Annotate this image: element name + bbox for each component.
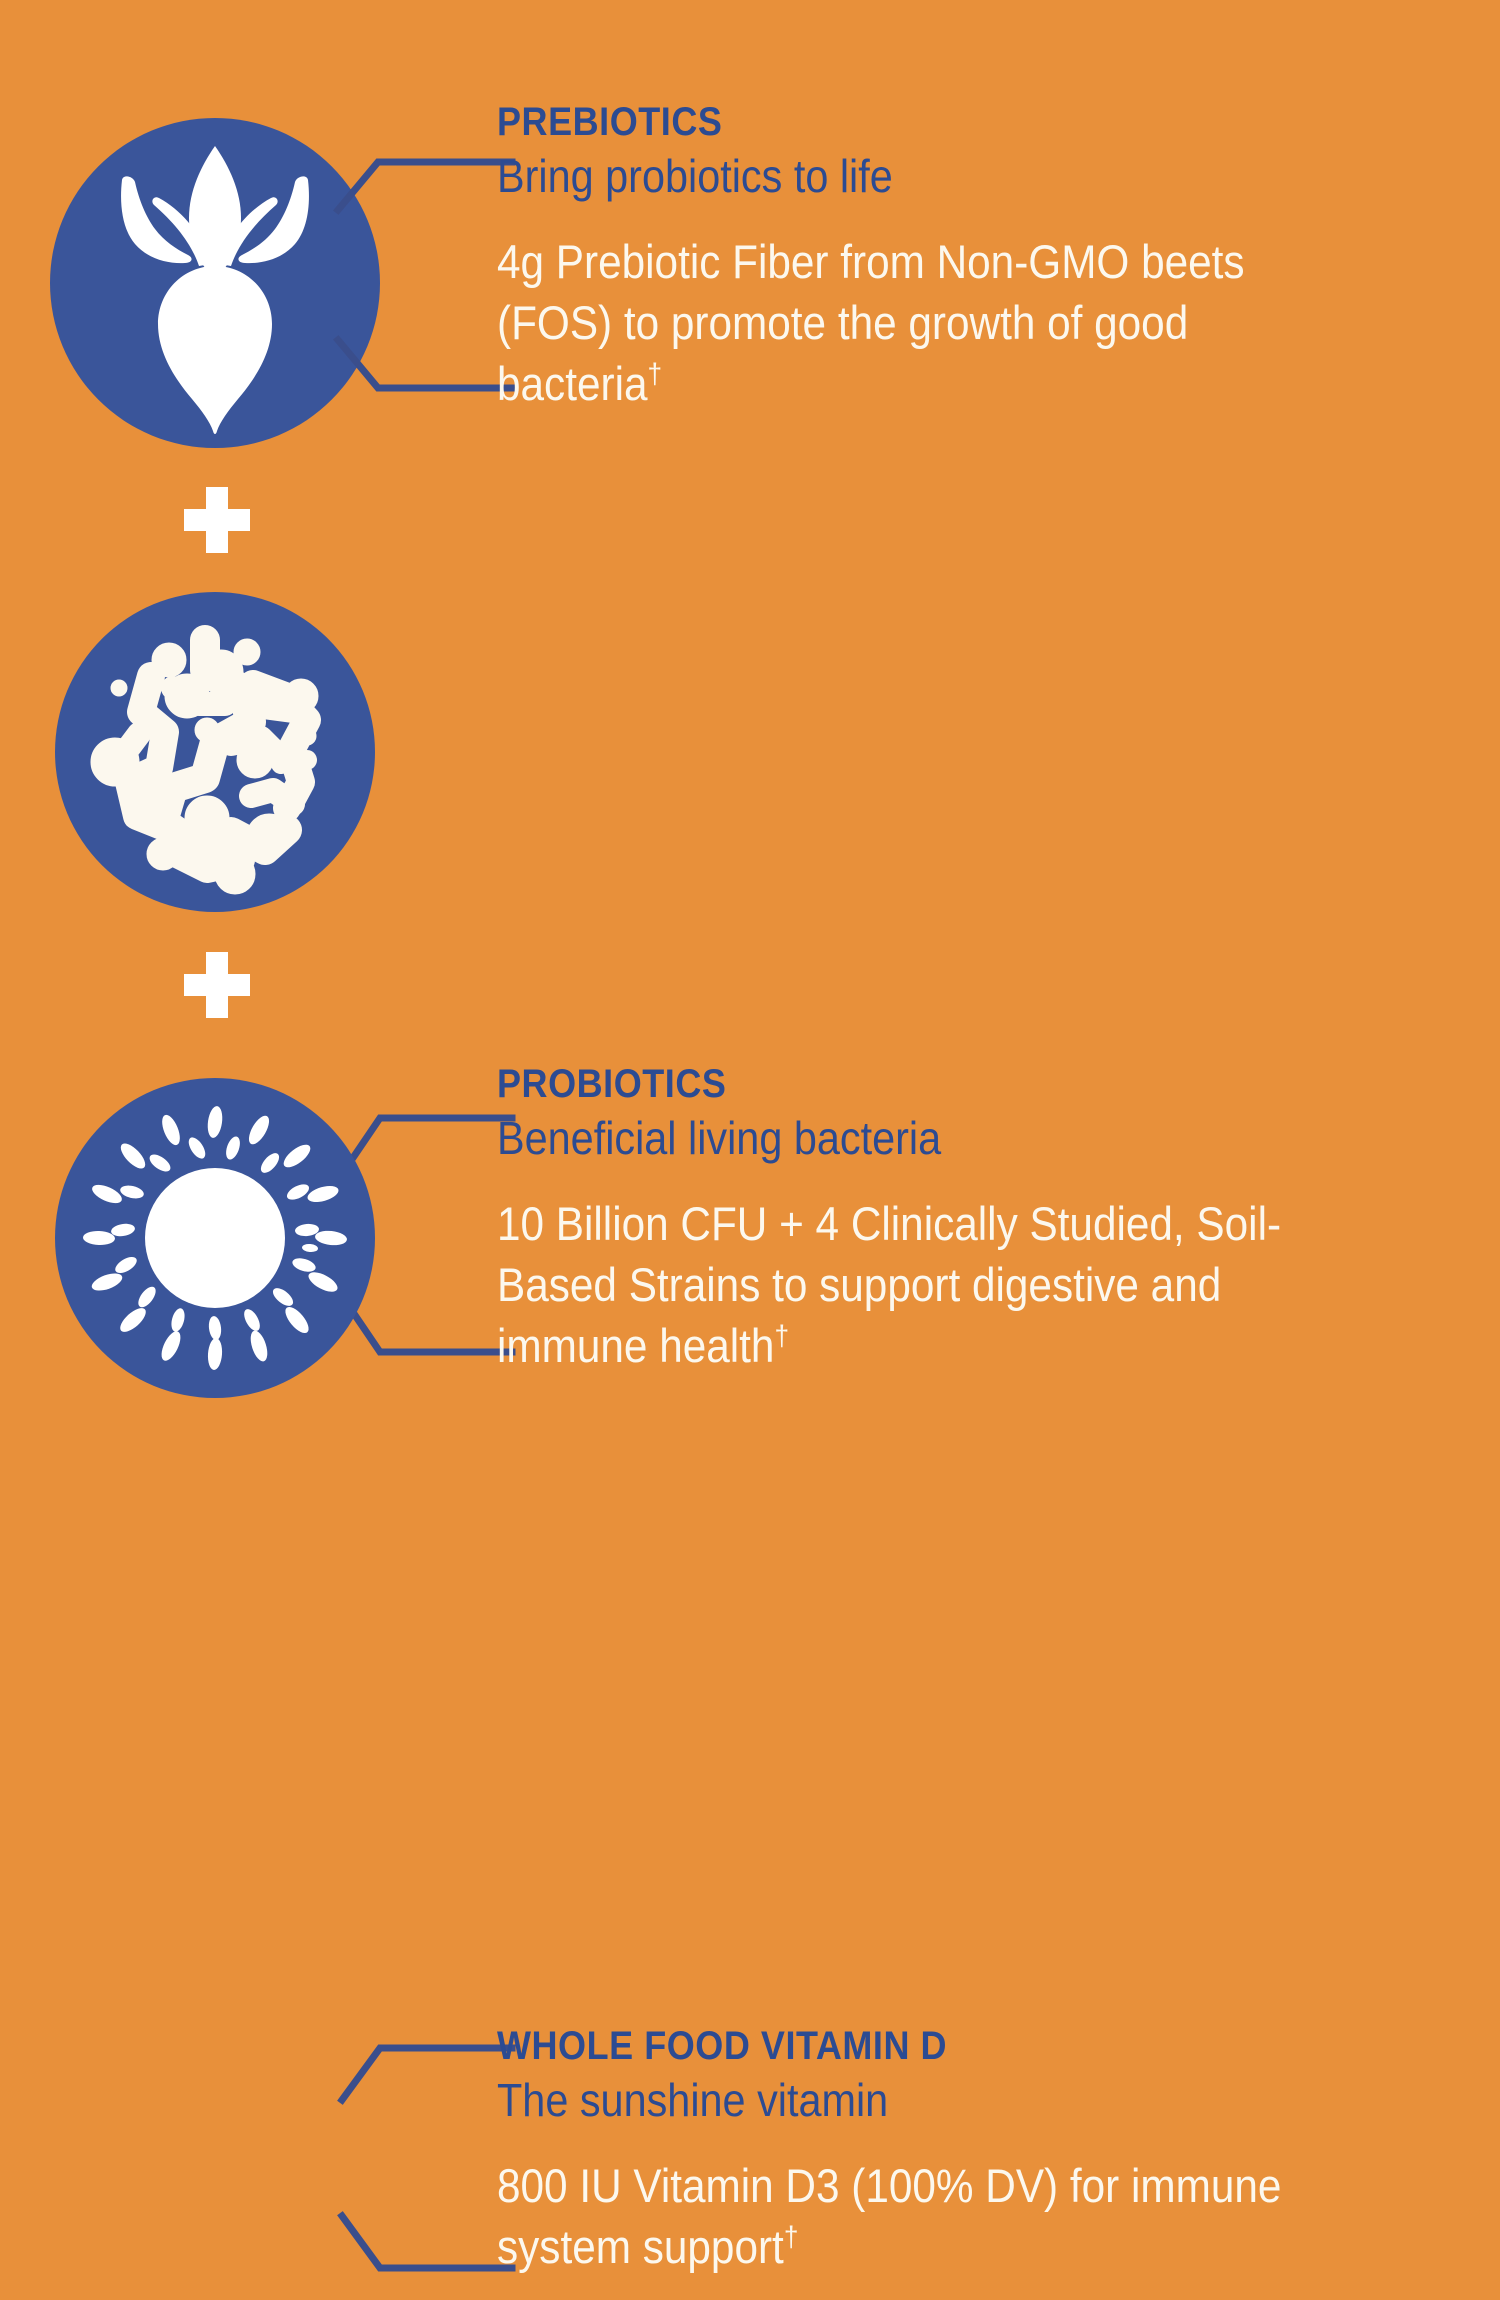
text-block-prebiotics: PREBIOTICS Bring probiotics to life 4g P… bbox=[497, 100, 1447, 414]
bacteria-cluster-icon bbox=[55, 592, 375, 912]
section-subhead: Bring probiotics to life bbox=[497, 149, 1352, 203]
section-vitamin-d: WHOLE FOOD VITAMIN D The sunshine vitami… bbox=[0, 940, 1500, 1500]
section-prebiotics: PREBIOTICS Bring probiotics to life 4g P… bbox=[0, 0, 1500, 470]
section-body-text: 4g Prebiotic Fiber from Non-GMO beets (F… bbox=[497, 235, 1245, 410]
section-body: 800 IU Vitamin D3 (100% DV) for immune s… bbox=[497, 2155, 1352, 2277]
sun-icon bbox=[55, 1078, 375, 1398]
dagger-symbol: † bbox=[647, 359, 662, 391]
infographic-canvas: PREBIOTICS Bring probiotics to life 4g P… bbox=[0, 0, 1500, 1500]
section-kicker: PREBIOTICS bbox=[497, 100, 1352, 145]
section-body-text: 800 IU Vitamin D3 (100% DV) for immune s… bbox=[497, 2159, 1281, 2273]
section-kicker: WHOLE FOOD VITAMIN D bbox=[497, 2024, 1352, 2069]
connector-bracket-vitamin-d bbox=[330, 2020, 520, 2300]
dagger-symbol: † bbox=[784, 2222, 799, 2254]
section-body: 4g Prebiotic Fiber from Non-GMO beets (F… bbox=[497, 231, 1352, 414]
text-block-vitamin-d: WHOLE FOOD VITAMIN D The sunshine vitami… bbox=[497, 2024, 1447, 2277]
section-probiotics: PROBIOTICS Beneficial living bacteria 10… bbox=[0, 470, 1500, 940]
beet-root-icon bbox=[50, 118, 380, 448]
section-subhead: The sunshine vitamin bbox=[497, 2073, 1352, 2127]
